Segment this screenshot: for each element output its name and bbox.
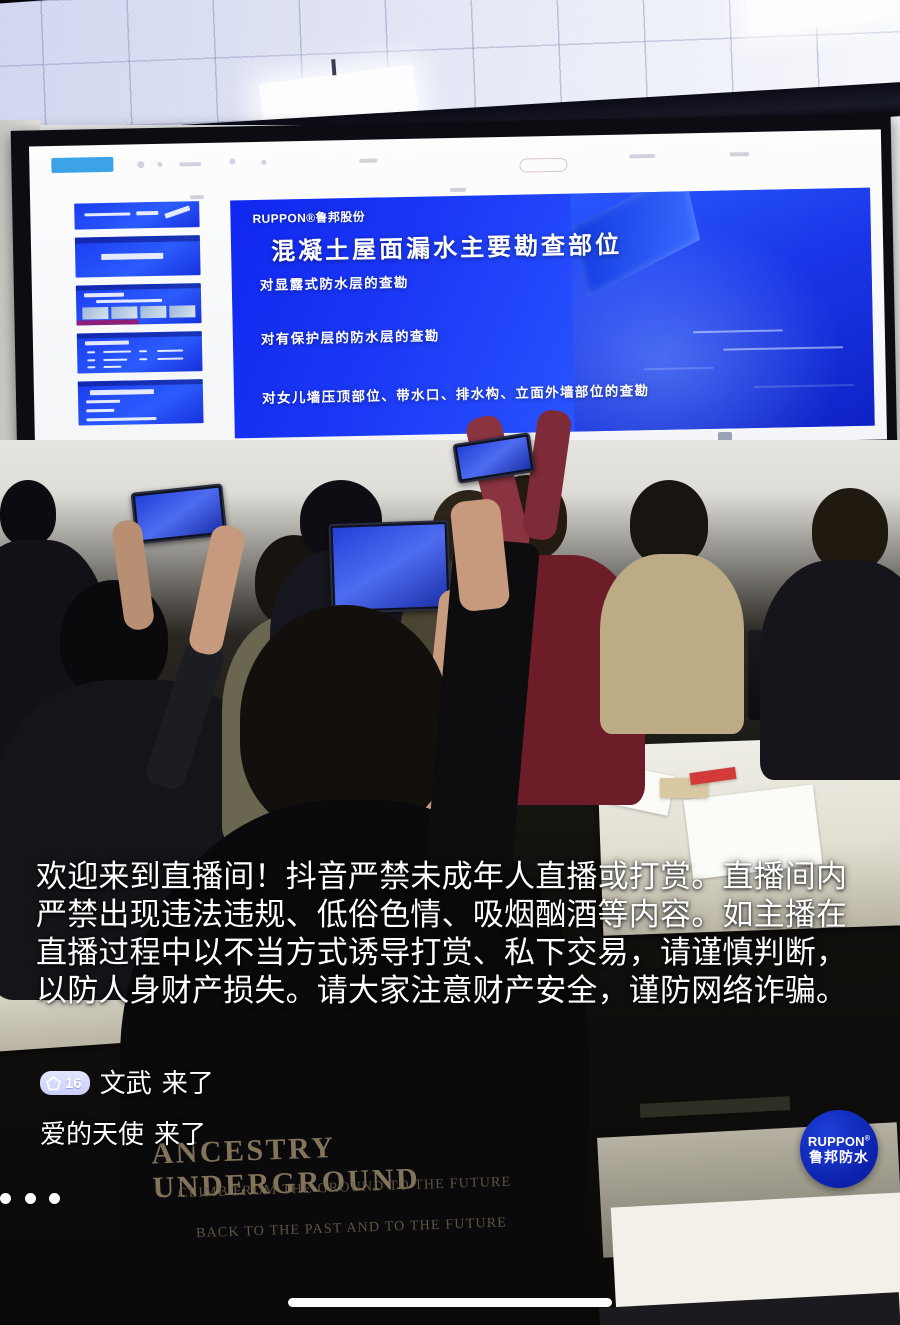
system-notice-text: 欢迎来到直播间！抖音严禁未成年人直播或打赏。直播间内严禁出现违法违规、低俗色情、… <box>36 858 866 1010</box>
registered-mark: ® <box>865 1135 870 1142</box>
chat-username: 文武 <box>100 1068 152 1098</box>
chat-message[interactable]: 爱的天使 来了 <box>40 1119 206 1149</box>
brand-watermark: RUPPON® 鲁邦防水 <box>800 1110 878 1188</box>
chat-text: 来了 <box>154 1119 206 1149</box>
more-options-button[interactable] <box>0 1185 60 1211</box>
home-indicator[interactable] <box>288 1298 612 1307</box>
dot-icon <box>49 1193 60 1204</box>
chat-message[interactable]: 16 文武 来了 <box>40 1068 214 1098</box>
user-level-badge: 16 <box>40 1071 90 1095</box>
live-stream-screen: RUPPON®鲁邦股份 混凝土屋面漏水主要勘查部位 对显露式防水层的查勘 对有保… <box>0 0 900 1325</box>
live-ui-overlay: 欢迎来到直播间！抖音严禁未成年人直播或打赏。直播间内严禁出现违法违规、低俗色情、… <box>0 0 900 1325</box>
level-number: 16 <box>65 1076 82 1091</box>
dot-icon <box>25 1193 36 1204</box>
watermark-en-text: RUPPON <box>808 1134 865 1149</box>
watermark-cn: 鲁邦防水 <box>809 1150 869 1164</box>
watermark-en: RUPPON® <box>808 1135 870 1148</box>
pentagon-icon <box>45 1075 62 1092</box>
chat-username: 爱的天使 <box>40 1119 144 1149</box>
dot-icon <box>0 1193 11 1204</box>
bottom-toolbar: 说点什么... <box>0 1185 900 1263</box>
chat-text: 来了 <box>162 1068 214 1098</box>
